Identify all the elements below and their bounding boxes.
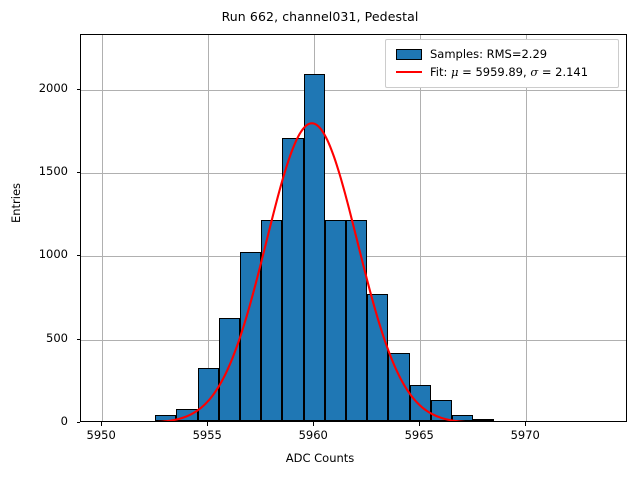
histogram-bar — [410, 385, 431, 421]
page-title: Run 662, channel031, Pedestal — [0, 9, 640, 24]
x-tick — [525, 422, 526, 426]
gridline-horizontal — [81, 90, 626, 91]
legend-line-icon — [396, 71, 422, 73]
legend-label-samples: Samples: RMS=2.29 — [430, 47, 547, 61]
y-tick-label: 2000 — [0, 81, 68, 95]
histogram-bar — [452, 415, 473, 421]
legend-label-fit: Fit: μ = 5959.89, σ = 2.141 — [430, 65, 588, 79]
x-tick — [419, 422, 420, 426]
legend-sigma-value: = 2.141 — [538, 65, 588, 79]
legend-mu-value: = 5959.89, — [459, 65, 531, 79]
histogram-bar — [219, 318, 240, 421]
gridline-vertical — [102, 35, 103, 421]
y-axis-label: Entries — [9, 123, 23, 283]
plot-clip — [81, 35, 626, 421]
x-tick-label: 5970 — [490, 428, 560, 442]
histogram-bar — [155, 415, 176, 421]
x-tick — [207, 422, 208, 426]
histogram-bar — [473, 419, 494, 421]
histogram-bar — [431, 400, 452, 421]
histogram-bar — [176, 409, 197, 421]
histogram-bar — [367, 294, 388, 421]
legend-patch-icon — [396, 49, 422, 60]
y-tick — [77, 255, 81, 256]
histogram-bar — [388, 353, 409, 421]
x-tick-label: 5955 — [172, 428, 242, 442]
histogram-bar — [346, 220, 367, 421]
histogram-bar — [261, 220, 282, 421]
y-tick — [77, 339, 81, 340]
histogram-bar — [240, 252, 261, 421]
x-tick-label: 5950 — [66, 428, 136, 442]
legend-item-fit: Fit: μ = 5959.89, σ = 2.141 — [392, 63, 612, 81]
gridline-horizontal — [81, 173, 626, 174]
histogram-bar — [198, 368, 219, 421]
x-axis-label: ADC Counts — [0, 451, 640, 465]
y-tick — [77, 422, 81, 423]
x-tick — [101, 422, 102, 426]
x-tick — [313, 422, 314, 426]
y-tick-label: 500 — [0, 331, 68, 345]
histogram-figure: Run 662, channel031, Pedestal 5950595559… — [0, 0, 640, 480]
x-tick-label: 5960 — [278, 428, 348, 442]
histogram-bar — [325, 220, 346, 421]
legend-fit-prefix: Fit: — [430, 65, 451, 79]
gridline-vertical — [420, 35, 421, 421]
histogram-bar — [304, 74, 325, 421]
legend-mu-symbol: μ — [451, 65, 458, 79]
legend: Samples: RMS=2.29 Fit: μ = 5959.89, σ = … — [385, 39, 619, 88]
y-tick — [77, 89, 81, 90]
plot-area — [80, 34, 627, 422]
legend-sigma-symbol: σ — [530, 65, 538, 79]
y-tick — [77, 172, 81, 173]
x-tick-label: 5965 — [384, 428, 454, 442]
histogram-bar — [282, 138, 303, 421]
legend-item-samples: Samples: RMS=2.29 — [392, 45, 612, 63]
y-tick-label: 0 — [0, 414, 68, 428]
gridline-vertical — [526, 35, 527, 421]
gridline-vertical — [208, 35, 209, 421]
